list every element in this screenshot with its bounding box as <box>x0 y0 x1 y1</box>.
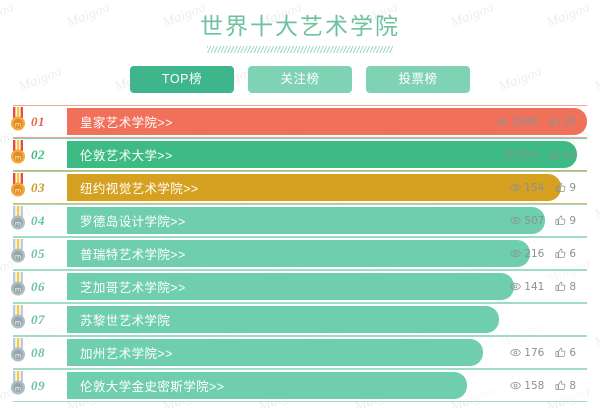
bar-area: 伦敦大学金史密斯学院>>1588 <box>67 372 587 399</box>
thumbs-up-icon[interactable] <box>555 182 566 193</box>
likes-stat[interactable]: 9 <box>555 182 576 194</box>
thumbs-up-icon[interactable] <box>555 215 566 226</box>
svg-text:m: m <box>15 154 21 162</box>
row-stats: 158918 <box>497 116 587 128</box>
rank-bar: 伦敦艺术大学>> <box>67 141 577 168</box>
rank-bar: 伦敦大学金史密斯学院>> <box>67 372 467 399</box>
likes-count: 6 <box>569 347 576 359</box>
school-name-link[interactable]: 罗德岛设计学院>> <box>67 211 186 230</box>
views-stat: 154 <box>510 182 544 194</box>
tab-vote[interactable]: 投票榜 <box>366 66 470 93</box>
table-row[interactable]: m06芝加哥艺术学院>>1418 <box>13 270 587 303</box>
school-name-link[interactable]: 苏黎世艺术学院 <box>67 310 170 329</box>
bar-area: 皇家艺术学院>>158918 <box>67 108 587 135</box>
views-count: 514 <box>518 149 538 161</box>
medal-icon: m <box>9 206 27 232</box>
views-stat: 176 <box>510 347 544 359</box>
rank-bar: 纽约视觉艺术学院>> <box>67 174 561 201</box>
medal-icon: m <box>9 140 27 166</box>
rank-number: 09 <box>31 378 67 394</box>
row-stats: 1418 <box>510 281 587 293</box>
rank-bar: 加州艺术学院>> <box>67 339 483 366</box>
table-row[interactable]: m08加州艺术学院>>1766 <box>13 336 587 369</box>
svg-text:m: m <box>15 253 21 261</box>
school-name-link[interactable]: 芝加哥艺术学院>> <box>67 277 186 296</box>
views-stat: 216 <box>510 248 544 260</box>
eye-icon <box>510 380 521 391</box>
medal-icon: m <box>9 371 27 397</box>
rank-number: 03 <box>31 180 67 196</box>
views-count: 176 <box>524 347 544 359</box>
medal-icon: m <box>9 338 27 364</box>
rank-number: 06 <box>31 279 67 295</box>
likes-stat[interactable]: 9 <box>555 215 576 227</box>
thumbs-up-icon[interactable] <box>555 380 566 391</box>
zigzag-underline-icon <box>207 46 393 53</box>
likes-count: 12 <box>563 149 576 161</box>
views-count: 158 <box>524 380 544 392</box>
views-count: 141 <box>524 281 544 293</box>
bar-area: 罗德岛设计学院>>5079 <box>67 207 587 234</box>
eye-icon <box>510 347 521 358</box>
likes-count: 8 <box>569 380 576 392</box>
rank-number: 05 <box>31 246 67 262</box>
likes-stat[interactable]: 6 <box>555 347 576 359</box>
table-row[interactable]: m02伦敦艺术大学>>51412 <box>13 138 587 171</box>
bar-area: 普瑞特艺术学院>>2166 <box>67 240 587 267</box>
school-name-link[interactable]: 纽约视觉艺术学院>> <box>67 178 199 197</box>
svg-text:m: m <box>15 121 21 129</box>
eye-icon <box>497 116 508 127</box>
eye-icon <box>510 215 521 226</box>
likes-stat[interactable]: 6 <box>555 248 576 260</box>
eye-icon <box>510 248 521 259</box>
thumbs-up-icon[interactable] <box>555 281 566 292</box>
school-name-link[interactable]: 伦敦艺术大学>> <box>67 145 173 164</box>
school-name-link[interactable]: 普瑞特艺术学院>> <box>67 244 186 263</box>
school-name-link[interactable]: 伦敦大学金史密斯学院>> <box>67 376 224 395</box>
likes-stat[interactable]: 12 <box>549 149 576 161</box>
bar-area: 加州艺术学院>>1766 <box>67 339 587 366</box>
tab-follow[interactable]: 关注榜 <box>248 66 352 93</box>
eye-icon <box>510 281 521 292</box>
svg-text:m: m <box>15 319 21 327</box>
tab-top[interactable]: TOP榜 <box>130 66 234 93</box>
likes-count: 8 <box>569 281 576 293</box>
views-stat: 141 <box>510 281 544 293</box>
medal-icon: m <box>9 173 27 199</box>
bar-area: 芝加哥艺术学院>>1418 <box>67 273 587 300</box>
rank-bar: 芝加哥艺术学院>> <box>67 273 514 300</box>
rank-number: 02 <box>31 147 67 163</box>
bar-area: 纽约视觉艺术学院>>1549 <box>67 174 587 201</box>
thumbs-up-icon[interactable] <box>555 248 566 259</box>
bar-area: 苏黎世艺术学院 <box>67 306 587 333</box>
likes-stat[interactable]: 18 <box>549 116 576 128</box>
views-stat: 158 <box>510 380 544 392</box>
row-stats: 1549 <box>510 182 587 194</box>
page-header: 世界十大艺术学院 <box>0 0 600 53</box>
row-stats: 2166 <box>510 248 587 260</box>
rank-bar: 罗德岛设计学院>> <box>67 207 545 234</box>
school-name-link[interactable]: 加州艺术学院>> <box>67 343 173 362</box>
table-row[interactable]: m04罗德岛设计学院>>5079 <box>13 204 587 237</box>
likes-count: 9 <box>569 182 576 194</box>
medal-icon: m <box>9 107 27 133</box>
rank-bar: 普瑞特艺术学院>> <box>67 240 530 267</box>
views-stat: 507 <box>510 215 544 227</box>
views-stat: 514 <box>504 149 538 161</box>
eye-icon <box>510 182 521 193</box>
medal-icon: m <box>9 272 27 298</box>
rank-bar: 苏黎世艺术学院 <box>67 306 499 333</box>
bar-area: 伦敦艺术大学>>51412 <box>67 141 587 168</box>
rank-number: 04 <box>31 213 67 229</box>
row-stats: 51412 <box>504 149 587 161</box>
thumbs-up-icon[interactable] <box>549 116 560 127</box>
views-count: 154 <box>524 182 544 194</box>
svg-text:m: m <box>15 352 21 360</box>
views-stat: 1589 <box>497 116 538 128</box>
views-count: 507 <box>524 215 544 227</box>
views-count: 1589 <box>511 116 538 128</box>
likes-stat[interactable]: 8 <box>555 281 576 293</box>
table-row[interactable]: m01皇家艺术学院>>158918 <box>13 105 587 138</box>
page-title: 世界十大艺术学院 <box>0 14 600 41</box>
rank-list: m01皇家艺术学院>>158918m02伦敦艺术大学>>51412m03纽约视觉… <box>0 105 600 402</box>
medal-icon: m <box>9 305 27 331</box>
views-count: 216 <box>524 248 544 260</box>
rank-number: 01 <box>31 114 67 130</box>
svg-text:m: m <box>15 286 21 294</box>
tab-bar: TOP榜关注榜投票榜 <box>0 66 600 93</box>
likes-count: 18 <box>563 116 576 128</box>
table-row[interactable]: m09伦敦大学金史密斯学院>>1588 <box>13 369 587 402</box>
svg-text:m: m <box>15 220 21 228</box>
table-row[interactable]: m03纽约视觉艺术学院>>1549 <box>13 171 587 204</box>
row-stats: 5079 <box>510 215 587 227</box>
rank-number: 07 <box>31 312 67 328</box>
likes-count: 9 <box>569 215 576 227</box>
table-row[interactable]: m05普瑞特艺术学院>>2166 <box>13 237 587 270</box>
table-row[interactable]: m07苏黎世艺术学院 <box>13 303 587 336</box>
medal-icon: m <box>9 239 27 265</box>
eye-icon <box>504 149 515 160</box>
thumbs-up-icon[interactable] <box>555 347 566 358</box>
rank-number: 08 <box>31 345 67 361</box>
thumbs-up-icon[interactable] <box>549 149 560 160</box>
row-stats: 1766 <box>510 347 587 359</box>
likes-count: 6 <box>569 248 576 260</box>
svg-text:m: m <box>15 187 21 195</box>
row-stats: 1588 <box>510 380 587 392</box>
svg-text:m: m <box>15 385 21 393</box>
school-name-link[interactable]: 皇家艺术学院>> <box>67 112 173 131</box>
likes-stat[interactable]: 8 <box>555 380 576 392</box>
